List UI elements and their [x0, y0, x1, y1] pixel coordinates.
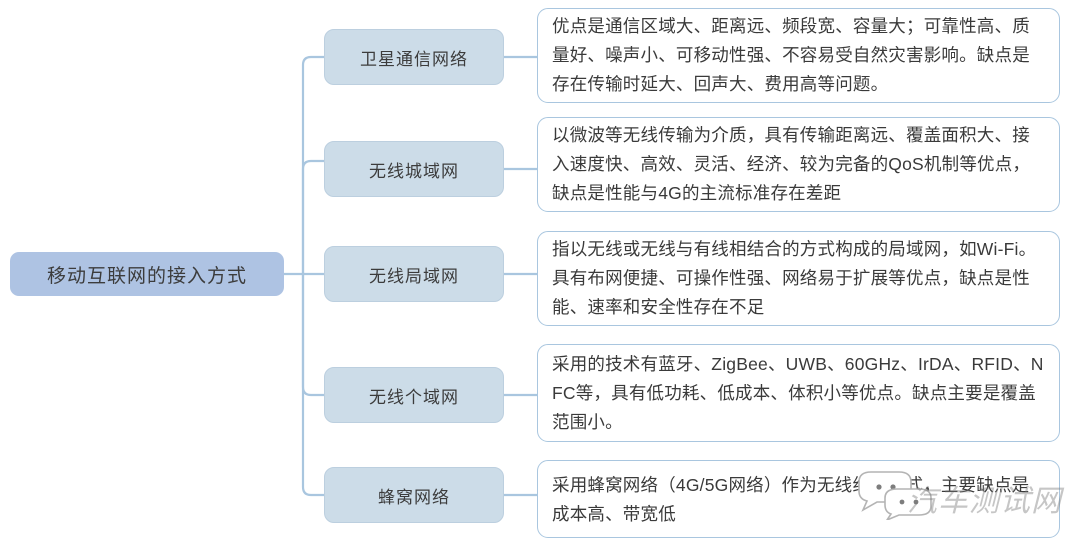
branch-node-label: 卫星通信网络 — [360, 45, 468, 70]
root-node[interactable]: 移动互联网的接入方式 — [10, 252, 284, 296]
description-box-wlan[interactable]: 指以无线或无线与有线相结合的方式构成的局域网，如Wi-Fi。具有布网便捷、可操作… — [537, 231, 1060, 326]
description-text: 以微波等无线传输为介质，具有传输距离远、覆盖面积大、接入速度快、高效、灵活、经济… — [552, 121, 1047, 208]
description-box-satellite[interactable]: 优点是通信区域大、距离远、频段宽、容量大；可靠性高、质量好、噪声小、可移动性强、… — [537, 8, 1060, 103]
mindmap-canvas: 移动互联网的接入方式 卫星通信网络 无线城域网 无线局域网 无线个域网 蜂窝网络… — [0, 0, 1080, 538]
branch-node-satellite[interactable]: 卫星通信网络 — [324, 29, 504, 85]
branch-node-wlan[interactable]: 无线局域网 — [324, 246, 504, 302]
description-box-wman[interactable]: 以微波等无线传输为介质，具有传输距离远、覆盖面积大、接入速度快、高效、灵活、经济… — [537, 117, 1060, 212]
root-node-label: 移动互联网的接入方式 — [47, 261, 247, 288]
branch-node-label: 蜂窝网络 — [378, 483, 450, 508]
branch-node-label: 无线城域网 — [369, 157, 459, 182]
branch-node-wpan[interactable]: 无线个域网 — [324, 367, 504, 423]
description-text: 采用的技术有蓝牙、ZigBee、UWB、60GHz、IrDA、RFID、NFC等… — [552, 350, 1047, 437]
description-text: 优点是通信区域大、距离远、频段宽、容量大；可靠性高、质量好、噪声小、可移动性强、… — [552, 12, 1047, 99]
description-box-cellular[interactable]: 采用蜂窝网络（4G/5G网络）作为无线组网方式，主要缺点是成本高、带宽低 — [537, 460, 1060, 538]
description-text: 指以无线或无线与有线相结合的方式构成的局域网，如Wi-Fi。具有布网便捷、可操作… — [552, 235, 1047, 322]
branch-node-cellular[interactable]: 蜂窝网络 — [324, 467, 504, 523]
description-text: 采用蜂窝网络（4G/5G网络）作为无线组网方式，主要缺点是成本高、带宽低 — [552, 471, 1047, 529]
branch-node-wman[interactable]: 无线城域网 — [324, 141, 504, 197]
branch-node-label: 无线局域网 — [369, 262, 459, 287]
branch-node-label: 无线个域网 — [369, 383, 459, 408]
description-box-wpan[interactable]: 采用的技术有蓝牙、ZigBee、UWB、60GHz、IrDA、RFID、NFC等… — [537, 344, 1060, 442]
